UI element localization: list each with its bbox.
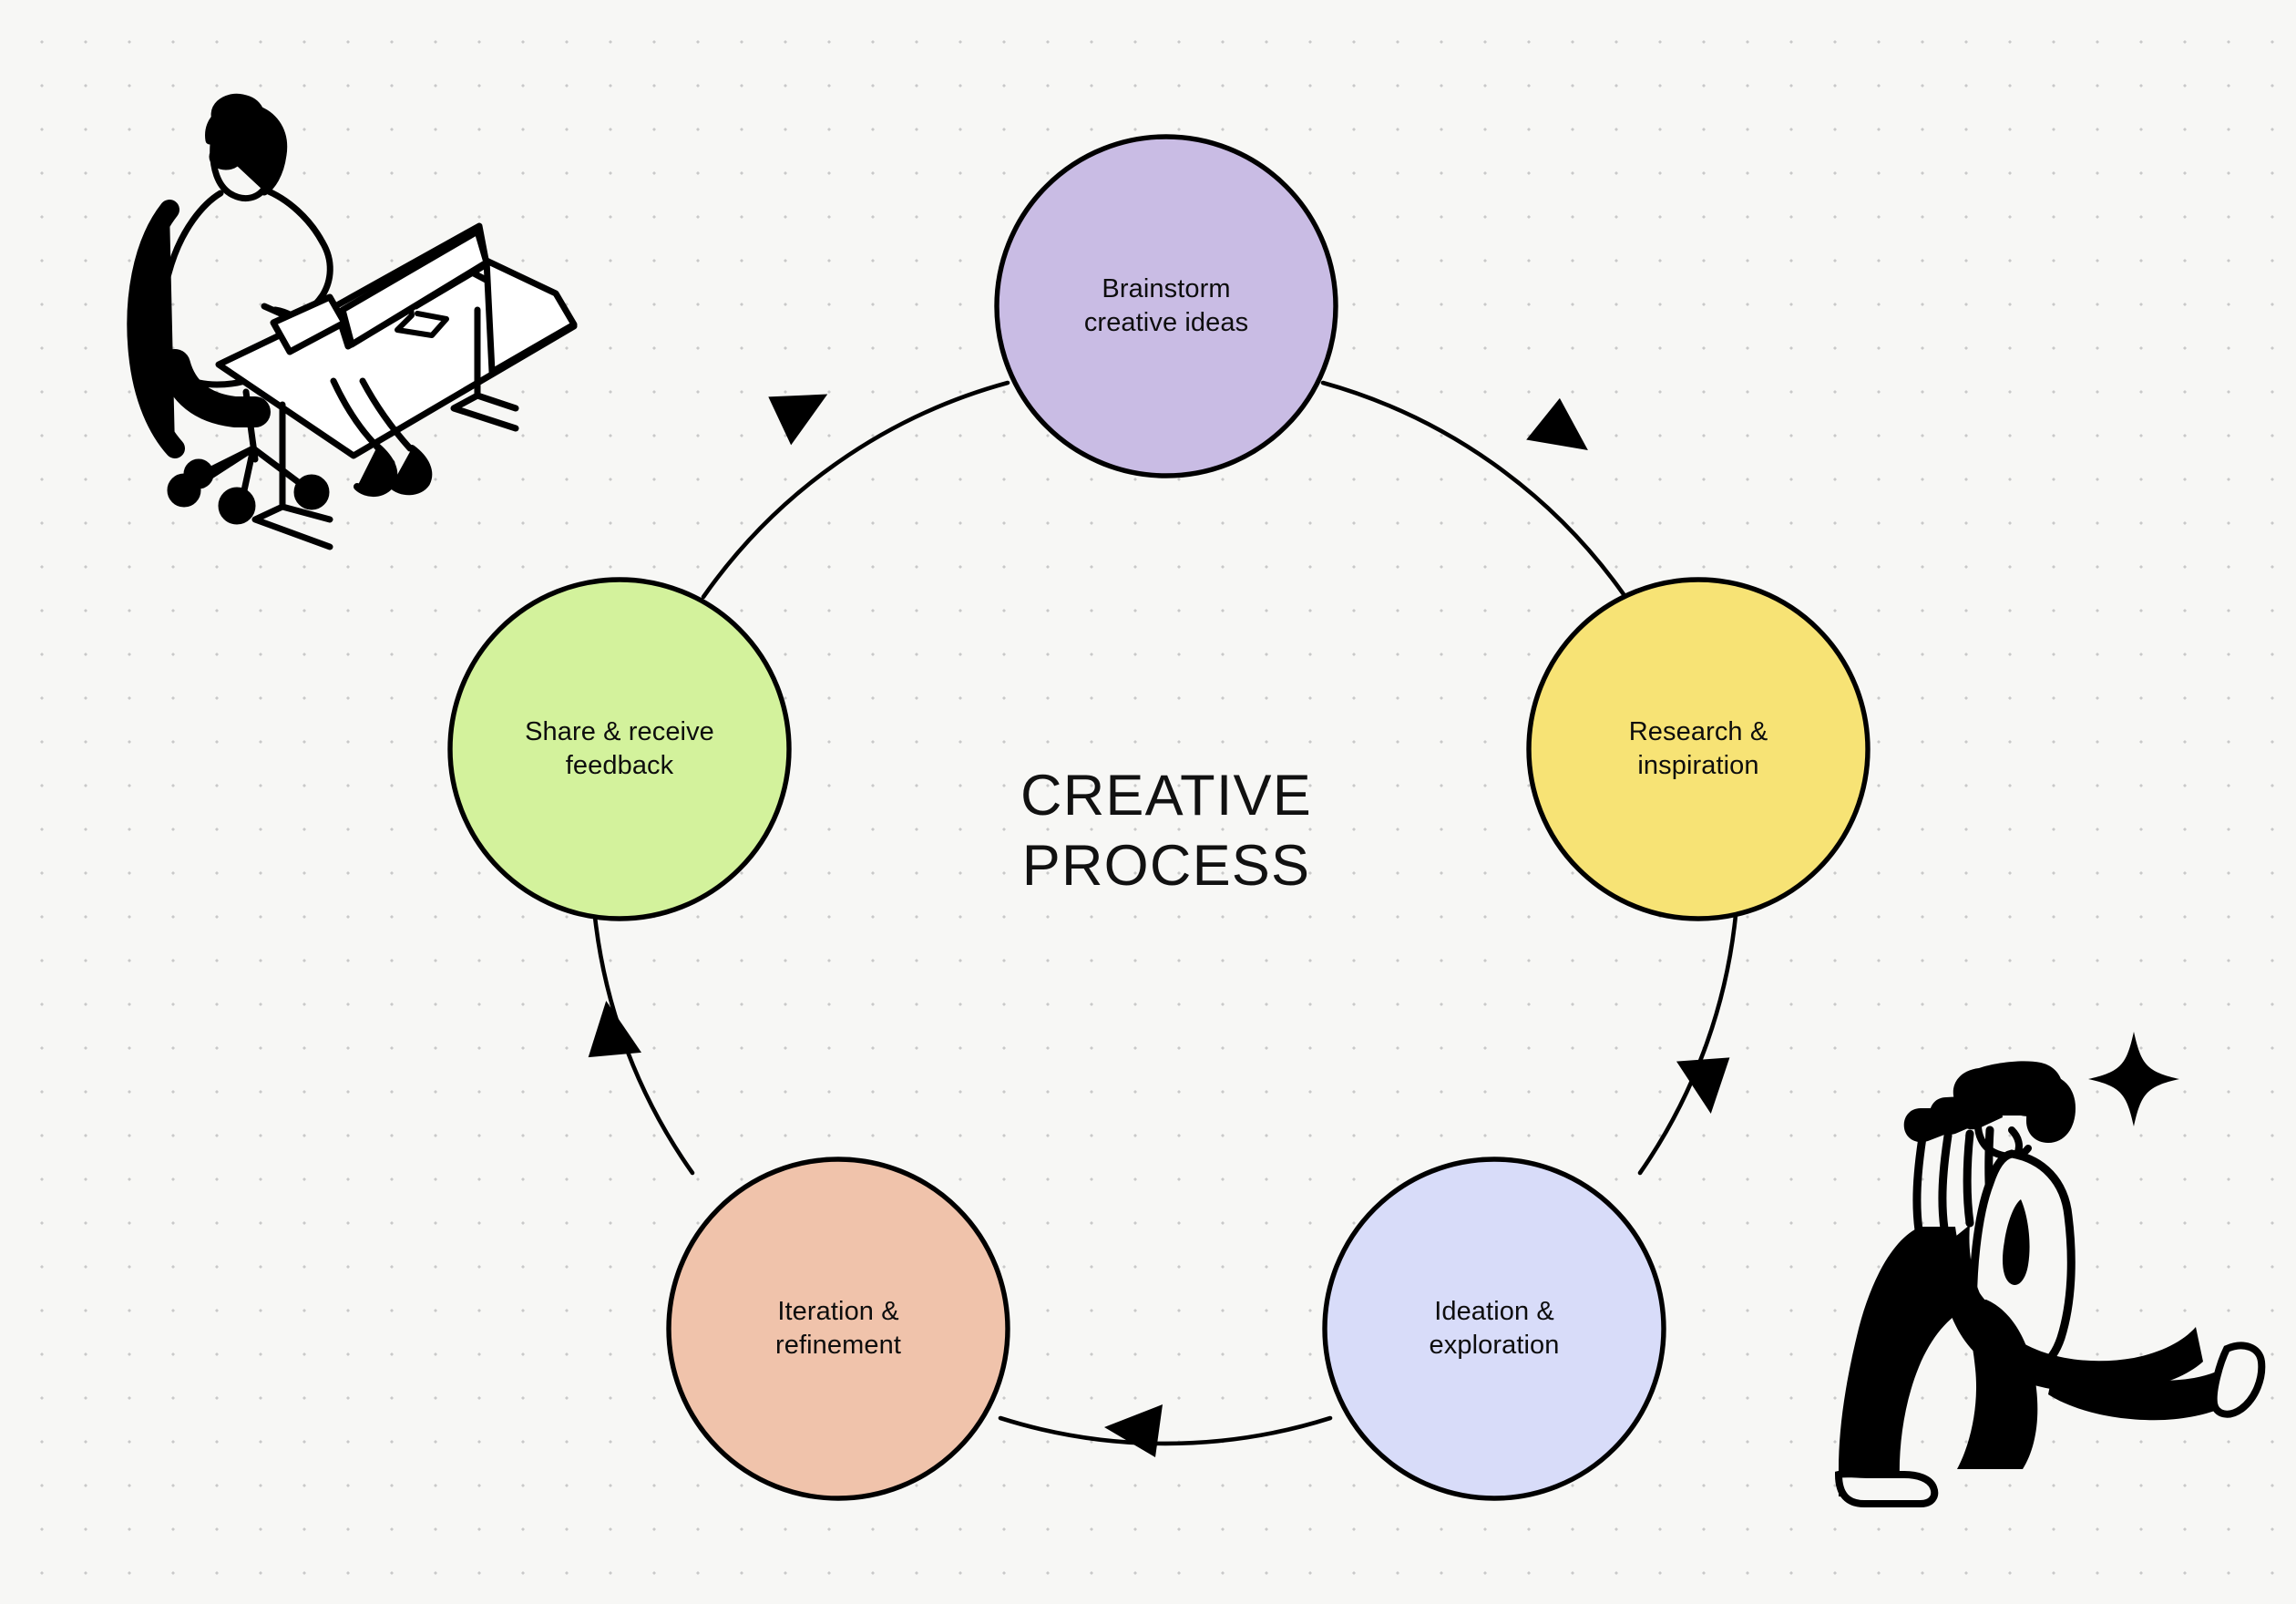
person-with-binoculars-illustration xyxy=(1839,1032,2261,1504)
arrowhead-feedback-brainstorm xyxy=(763,369,840,445)
sparkle-icon xyxy=(2088,1032,2179,1126)
node-circle-ideation[interactable] xyxy=(1325,1159,1664,1498)
edge-research-to-ideation xyxy=(1640,915,1736,1173)
page-title: CREATIVE PROCESS xyxy=(1020,761,1312,901)
arrowhead-brainstorm-research xyxy=(1526,395,1604,470)
person-at-desk-illustration xyxy=(137,99,574,547)
edge-feedback-to-brainstorm xyxy=(703,383,1008,597)
edge-ideation-to-iteration xyxy=(1000,1418,1330,1444)
edge-brainstorm-to-research xyxy=(1323,383,1625,597)
arrowhead-iteration-feedback xyxy=(577,995,641,1064)
node-circle-brainstorm[interactable] xyxy=(997,137,1336,476)
arrowhead-research-ideation xyxy=(1676,1051,1740,1119)
node-circle-feedback[interactable] xyxy=(450,580,789,919)
arrowhead-ideation-iteration xyxy=(1104,1404,1163,1457)
node-circle-iteration[interactable] xyxy=(669,1159,1008,1498)
diagram-canvas: Brainstorm creative ideas Research & ins… xyxy=(0,0,2296,1604)
node-circle-research[interactable] xyxy=(1529,580,1868,919)
